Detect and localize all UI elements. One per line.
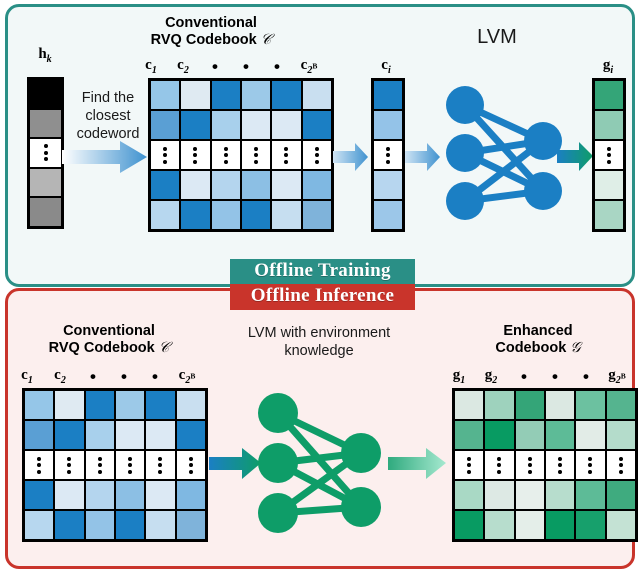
- top-codebook-cell-r4-c4: [271, 200, 301, 230]
- bottom-codebook-ellipsis-cell: [145, 450, 175, 480]
- bottom-codebook-cell-r3-c4: [145, 480, 175, 510]
- top-codebook-cell-r0-c5: [302, 80, 332, 110]
- input-vector-cell-r1-c0: [29, 109, 62, 139]
- bottom-codebook-cell-r4-c1: [54, 510, 84, 540]
- top-codebook-cell-r3-c2: [211, 170, 241, 200]
- enhanced-col-label-g1: g1: [444, 368, 474, 388]
- bottom-codebook-cell-r0-c4: [145, 390, 175, 420]
- figure-canvas: hk Find the closest codeword Conventiona…: [0, 0, 640, 573]
- input-vector-h-k: [27, 77, 64, 229]
- top-codebook-cell-r4-c5: [302, 200, 332, 230]
- bottom-codebook-ellipsis-cell: [85, 450, 115, 480]
- top-codebook-cell-r1-c5: [302, 110, 332, 140]
- top-codebook-ellipsis-cell: [150, 140, 180, 170]
- input-vector-label: hk: [22, 47, 68, 67]
- enhanced-codebook-cell-r3-c3: [545, 480, 575, 510]
- output-vector-label: gi: [590, 58, 626, 78]
- input-vector-ellipsis-cell: [29, 138, 62, 168]
- output-vector-cell-r1-c0: [594, 110, 624, 140]
- enhanced-codebook-cell-r0-c5: [606, 390, 636, 420]
- selected-vector-cell-r4-c0: [373, 200, 403, 230]
- bottom-codebook-cell-r1-c5: [176, 420, 206, 450]
- selected-vector-cell-r1-c0: [373, 110, 403, 140]
- bottom-codebook-ellipsis-cell: [54, 450, 84, 480]
- enhanced-codebook-cell-r1-c5: [606, 420, 636, 450]
- enhanced-codebook-ellipsis-cell: [606, 450, 636, 480]
- top-codebook-ellipsis-cell: [211, 140, 241, 170]
- top-codebook-cell-r0-c1: [180, 80, 210, 110]
- enhanced-codebook-cell-r1-c3: [545, 420, 575, 450]
- enhanced-col-label-dot-1: •: [511, 372, 537, 382]
- bottom-codebook-cell-r1-c4: [145, 420, 175, 450]
- enhanced-codebook-ellipsis-cell: [575, 450, 605, 480]
- bottom-codebook-cell-r4-c0: [24, 510, 54, 540]
- enhanced-codebook-cell-r4-c2: [515, 510, 545, 540]
- lvm-network-green: [248, 385, 398, 540]
- enhanced-col-label-dot-3: •: [573, 372, 599, 382]
- enhanced-col-label-g2B: g2B: [598, 368, 636, 388]
- enhanced-codebook-cell-r1-c4: [575, 420, 605, 450]
- offline-training-ribbon: Offline Training: [230, 259, 415, 284]
- bottom-codebook-cell-r3-c0: [24, 480, 54, 510]
- top-codebook-cell-r3-c4: [271, 170, 301, 200]
- bottom-codebook-ellipsis-cell: [24, 450, 54, 480]
- bottom-codebook-cell-r0-c2: [85, 390, 115, 420]
- enhanced-codebook-ellipsis-cell: [515, 450, 545, 480]
- enhanced-codebook-cell-r3-c2: [515, 480, 545, 510]
- bottom-codebook-cell-r4-c3: [115, 510, 145, 540]
- bottom-codebook-cell-r1-c1: [54, 420, 84, 450]
- bottom-codebook-cell-r1-c2: [85, 420, 115, 450]
- selected-vector-cell-r3-c0: [373, 170, 403, 200]
- enhanced-codebook-cell-r1-c2: [515, 420, 545, 450]
- top-codebook-ellipsis-cell: [271, 140, 301, 170]
- bottom-codebook-cell-r4-c4: [145, 510, 175, 540]
- top-codebook-cell-r1-c2: [211, 110, 241, 140]
- enhanced-codebook-ellipsis-cell: [484, 450, 514, 480]
- top-codebook-cell-r4-c1: [180, 200, 210, 230]
- top-codebook-cell-r1-c0: [150, 110, 180, 140]
- enhanced-codebook-cell-r3-c5: [606, 480, 636, 510]
- top-codebook-cell-r4-c3: [241, 200, 271, 230]
- enhanced-codebook-cell-r1-c1: [484, 420, 514, 450]
- lvm-label: LVM: [452, 28, 542, 46]
- enhanced-codebook-cell-r0-c0: [454, 390, 484, 420]
- enhanced-col-label-dot-2: •: [542, 372, 568, 382]
- bottom-codebook-cell-r1-c3: [115, 420, 145, 450]
- input-vector-cell-r3-c0: [29, 168, 62, 198]
- arrow-ci-to-lvm: [405, 142, 440, 172]
- bottom-codebook-cell-r0-c0: [24, 390, 54, 420]
- top-codebook-cell-r1-c4: [271, 110, 301, 140]
- enhanced-codebook-cell-r4-c5: [606, 510, 636, 540]
- arrow-find-codeword: [62, 139, 147, 175]
- top-col-label-dot-1: •: [202, 62, 228, 72]
- enhanced-codebook-cell-r3-c1: [484, 480, 514, 510]
- enhanced-codebook-cell-r0-c4: [575, 390, 605, 420]
- enhanced-codebook-title: Enhanced Codebook 𝒢: [443, 323, 633, 357]
- enhanced-codebook-ellipsis-cell: [454, 450, 484, 480]
- bottom-codebook-cell-r3-c3: [115, 480, 145, 510]
- top-codebook-cell-r3-c1: [180, 170, 210, 200]
- bottom-codebook-cell-r4-c2: [85, 510, 115, 540]
- top-col-label-dot-2: •: [233, 62, 259, 72]
- enhanced-codebook-cell-r0-c2: [515, 390, 545, 420]
- top-codebook-title: Conventional RVQ Codebook 𝒞: [116, 15, 306, 49]
- top-codebook-cell-r4-c0: [150, 200, 180, 230]
- bottom-codebook-cell-r0-c1: [54, 390, 84, 420]
- bottom-codebook-ellipsis-cell: [176, 450, 206, 480]
- enhanced-codebook-cell-r4-c1: [484, 510, 514, 540]
- top-codebook-cell-r1-c1: [180, 110, 210, 140]
- input-vector-cell-r0-c0: [29, 79, 62, 109]
- selected-vector-label: ci: [368, 58, 404, 78]
- bottom-col-label-c1: c1: [12, 368, 42, 388]
- top-col-label-dot-3: •: [264, 62, 290, 72]
- top-col-label-c2B: c2B: [290, 58, 328, 78]
- enhanced-codebook-matrix: [452, 388, 638, 542]
- selected-vector-ellipsis-cell: [373, 140, 403, 170]
- top-col-label-c2: c2: [168, 58, 198, 78]
- enhanced-col-label-g2: g2: [476, 368, 506, 388]
- selected-vector-cell-r0-c0: [373, 80, 403, 110]
- bottom-codebook-cell-r3-c5: [176, 480, 206, 510]
- top-codebook-cell-r4-c2: [211, 200, 241, 230]
- enhanced-codebook-cell-r3-c4: [575, 480, 605, 510]
- enhanced-codeword-vector-gi: [592, 78, 626, 232]
- enhanced-codebook-cell-r3-c0: [454, 480, 484, 510]
- lvm-environment-caption: LVM with environment knowledge: [224, 324, 414, 360]
- input-vector-cell-r4-c0: [29, 197, 62, 227]
- arrow-codebook-to-ci: [333, 142, 368, 172]
- offline-inference-ribbon: Offline Inference: [230, 284, 415, 310]
- top-conventional-codebook-matrix: [148, 78, 334, 232]
- bottom-codebook-cell-r0-c5: [176, 390, 206, 420]
- output-vector-cell-r3-c0: [594, 170, 624, 200]
- enhanced-codebook-cell-r0-c1: [484, 390, 514, 420]
- bottom-codebook-cell-r0-c3: [115, 390, 145, 420]
- arrow-lvm-to-enhanced: [388, 447, 446, 480]
- enhanced-codebook-cell-r0-c3: [545, 390, 575, 420]
- enhanced-codebook-cell-r1-c0: [454, 420, 484, 450]
- bottom-codebook-cell-r3-c2: [85, 480, 115, 510]
- top-codebook-cell-r1-c3: [241, 110, 271, 140]
- arrow-lvm-to-gi: [557, 141, 593, 172]
- top-codebook-cell-r0-c2: [211, 80, 241, 110]
- top-codebook-cell-r3-c3: [241, 170, 271, 200]
- enhanced-codebook-ellipsis-cell: [545, 450, 575, 480]
- bottom-col-label-dot-2: •: [111, 372, 137, 382]
- top-col-label-c1: c1: [136, 58, 166, 78]
- top-codebook-cell-r0-c4: [271, 80, 301, 110]
- enhanced-codebook-cell-r4-c0: [454, 510, 484, 540]
- bottom-col-label-dot-3: •: [142, 372, 168, 382]
- top-codebook-cell-r0-c0: [150, 80, 180, 110]
- top-codebook-ellipsis-cell: [241, 140, 271, 170]
- find-closest-codeword-text: Find the closest codeword: [62, 89, 154, 143]
- top-codebook-ellipsis-cell: [180, 140, 210, 170]
- top-codebook-cell-r0-c3: [241, 80, 271, 110]
- bottom-col-label-c2: c2: [45, 368, 75, 388]
- enhanced-codebook-cell-r4-c4: [575, 510, 605, 540]
- top-codebook-ellipsis-cell: [302, 140, 332, 170]
- enhanced-codebook-cell-r4-c3: [545, 510, 575, 540]
- bottom-codebook-cell-r3-c1: [54, 480, 84, 510]
- bottom-codebook-title: Conventional RVQ Codebook 𝒞: [14, 323, 204, 357]
- bottom-conventional-codebook-matrix: [22, 388, 208, 542]
- bottom-codebook-cell-r1-c0: [24, 420, 54, 450]
- selected-codeword-vector-ci: [371, 78, 405, 232]
- output-vector-cell-r4-c0: [594, 200, 624, 230]
- top-codebook-cell-r3-c0: [150, 170, 180, 200]
- bottom-codebook-cell-r4-c5: [176, 510, 206, 540]
- bottom-col-label-dot-1: •: [80, 372, 106, 382]
- lvm-network-blue: [440, 78, 570, 228]
- bottom-col-label-c2B: c2B: [168, 368, 206, 388]
- bottom-codebook-ellipsis-cell: [115, 450, 145, 480]
- top-codebook-cell-r3-c5: [302, 170, 332, 200]
- output-vector-cell-r0-c0: [594, 80, 624, 110]
- output-vector-ellipsis-cell: [594, 140, 624, 170]
